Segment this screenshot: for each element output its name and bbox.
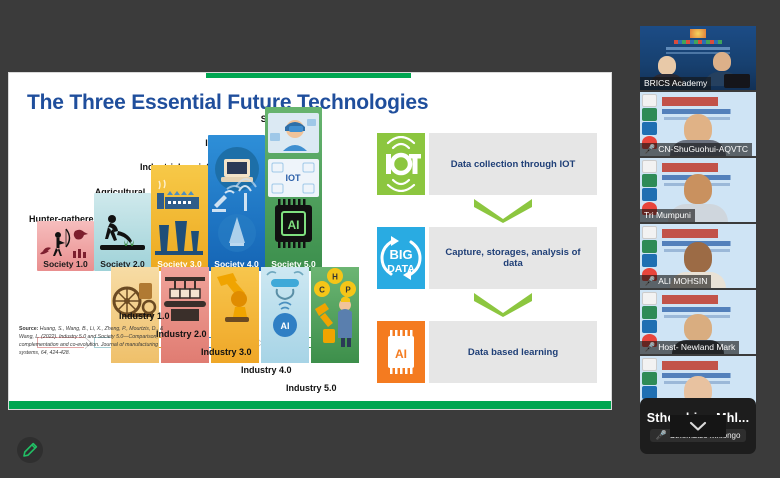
flow-chevron-1-icon	[472, 197, 534, 223]
society-column-2: Society 2.0	[94, 193, 151, 271]
big-data-icon: BIG DATA	[377, 227, 425, 289]
slide-title: The Three Essential Future Technologies	[27, 91, 428, 115]
svg-text:BIG: BIG	[389, 247, 412, 262]
svg-text:IOT: IOT	[286, 173, 302, 183]
filmstrip-expand-button[interactable]	[670, 415, 726, 437]
society-column-1: Society 1.0	[37, 221, 94, 271]
participant-name-1: BRICS Academy	[640, 77, 711, 90]
flow-chevron-2-icon	[472, 291, 534, 317]
video-tile-brics-academy[interactable]: BRICS Academy	[640, 26, 756, 90]
flow-row-ai: AI Data based learning	[377, 321, 597, 383]
industry-column-5: H C P	[311, 267, 359, 363]
ai-chip-icon: AI	[377, 321, 425, 383]
svg-text:P: P	[345, 286, 351, 295]
svg-text:DATA: DATA	[387, 263, 415, 275]
society-column-3: Society 3.0	[151, 165, 208, 271]
hunter-gatherer-icon	[37, 225, 94, 261]
flow-text-bigdata: Capture, storages, analysis of data	[429, 247, 597, 269]
zoom-meeting-window: The Three Essential Future Technologies …	[0, 0, 780, 478]
industry-column-4: AI	[261, 267, 309, 363]
svg-text:C: C	[319, 286, 325, 295]
muted-mic-icon: 🎤	[656, 431, 667, 440]
society-label-1: Society 1.0	[37, 259, 94, 269]
source-citation: Source: Huang, S., Wang, B., Li, X., Zhe…	[19, 325, 169, 357]
flow-box-iot: Data collection through IOT	[429, 133, 597, 195]
iot-robot-ai-icon: AI	[261, 267, 309, 347]
society-industry-figure: Hunter-gatherer society Agricultural soc…	[19, 115, 364, 400]
flow-box-bigdata: Capture, storages, analysis of data	[429, 227, 597, 289]
annotate-button[interactable]	[17, 437, 43, 463]
pencil-annotate-icon	[22, 442, 38, 458]
video-tile-cn-shuguohui[interactable]: 🎤 CN-ShuGuohui-AQVTC	[640, 92, 756, 156]
participant-name-3: Tri Mumpuni	[640, 209, 695, 222]
industry-label-3: Industry 3.0	[201, 347, 252, 357]
muted-mic-icon: 🎤	[644, 277, 655, 286]
source-prefix: Source:	[19, 326, 38, 332]
video-tile-tri-mumpuni[interactable]: Tri Mumpuni	[640, 158, 756, 222]
flow-text-iot: Data collection through IOT	[445, 159, 582, 170]
flow-text-ai: Data based learning	[462, 347, 564, 358]
svg-text:H: H	[332, 273, 338, 282]
source-text: Huang, S., Wang, B., Li, X., Zheng, P., …	[19, 326, 163, 356]
society-column-5: IOT AI	[265, 107, 322, 271]
flow-row-iot: Data collection through IOT	[377, 133, 597, 195]
slide-bottom-accent-bar	[9, 401, 612, 409]
chevron-down-icon	[689, 421, 707, 432]
information-society-icon	[208, 143, 265, 255]
society-column-4: Society 4.0	[208, 135, 265, 271]
industrial-factory-icon	[151, 177, 208, 263]
participant-name-4: 🎤 ALI MOHSIN	[640, 275, 711, 288]
flow-row-bigdata: BIG DATA Capture, storages, analysis of …	[377, 227, 597, 289]
svg-text:AI: AI	[395, 347, 407, 361]
robot-arm-icon	[211, 267, 259, 329]
video-tile-ali-mohsin[interactable]: 🎤 ALI MOHSIN	[640, 224, 756, 288]
flow-box-ai: Data based learning	[429, 321, 597, 383]
participant-name-5: 🎤 Host- Newland Mark	[640, 341, 739, 354]
agricultural-icon	[94, 207, 151, 263]
technology-flow-diagram: Data collection through IOT	[377, 133, 597, 393]
svg-text:AI: AI	[281, 321, 290, 331]
participant-name-2: 🎤 CN-ShuGuohui-AQVTC	[640, 143, 752, 156]
super-smart-society-icon: IOT AI	[265, 111, 322, 251]
muted-mic-icon: 🎤	[644, 343, 655, 352]
presentation-slide: The Three Essential Future Technologies …	[8, 72, 612, 410]
industry-label-5: Industry 5.0	[286, 383, 337, 393]
human-robot-collab-icon: H C P	[311, 267, 359, 347]
industry-label-1: Industry 1.0	[119, 311, 170, 321]
muted-mic-icon: 🎤	[644, 145, 655, 154]
shared-screen-area: The Three Essential Future Technologies …	[0, 0, 630, 478]
participant-filmstrip[interactable]: BRICS Academy 🎤 CN-ShuGuohui-AQVTC	[636, 26, 760, 436]
svg-text:AI: AI	[288, 218, 300, 232]
slide-top-accent-bar	[206, 73, 411, 78]
iot-icon	[377, 133, 425, 195]
video-tile-host-newland-mark[interactable]: 🎤 Host- Newland Mark	[640, 290, 756, 354]
industry-label-4: Industry 4.0	[241, 365, 292, 375]
